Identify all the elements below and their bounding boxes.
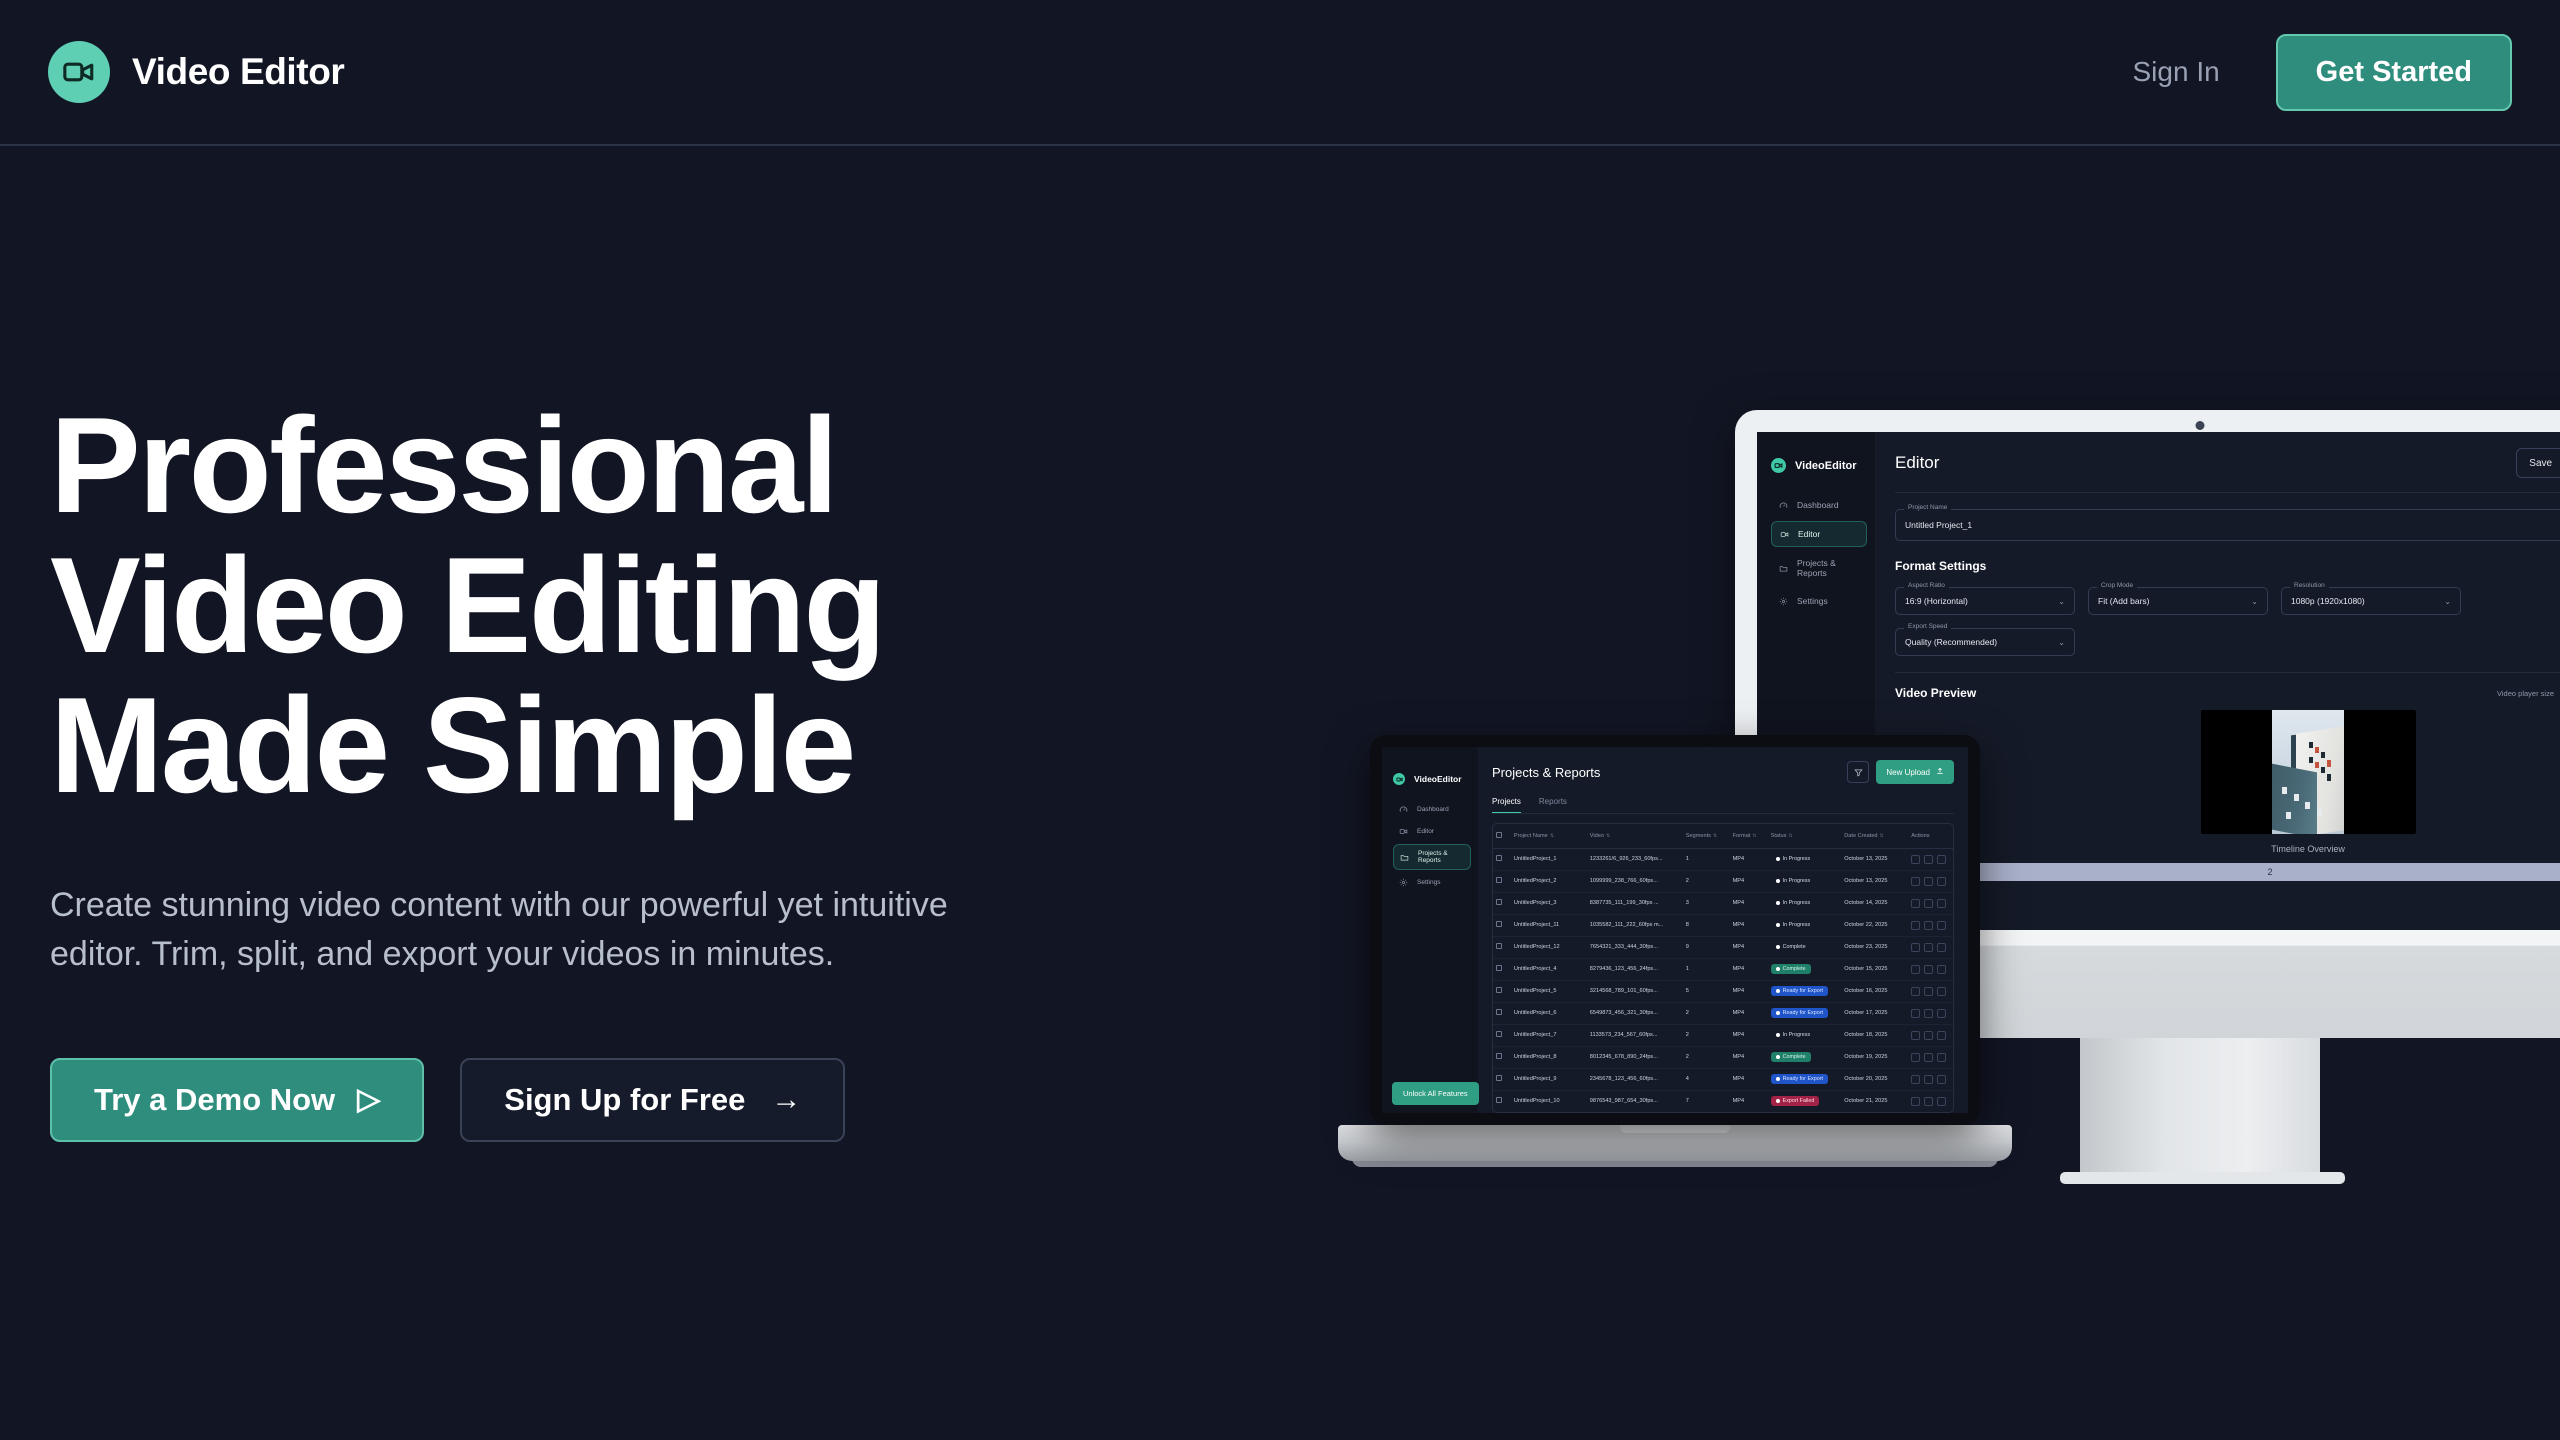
cell-video: 3214568_789_101_60fps... [1587, 980, 1683, 1002]
cell-status: Ready for Export [1768, 1068, 1842, 1090]
editor-divider [1895, 492, 2560, 493]
play-icon: ▷ [357, 1085, 380, 1115]
table-row[interactable]: UntitledProject_92345678_123_456_60fps..… [1493, 1068, 1953, 1090]
cell-date-created: October 13, 2025 [1841, 848, 1908, 870]
edit-icon[interactable] [1911, 899, 1920, 908]
download-icon[interactable] [1924, 1009, 1933, 1018]
editor-nav-item-settings[interactable]: Settings [1771, 589, 1867, 613]
editor-divider-2 [1895, 672, 2560, 673]
trash-icon[interactable] [1937, 877, 1946, 886]
cell-project-name: UntitledProject_4 [1511, 958, 1587, 980]
cell-date-created: October 16, 2025 [1841, 980, 1908, 1002]
column-label: Status [1771, 833, 1787, 839]
projects-table: Project Name⇅Video⇅Segments⇅Format⇅Statu… [1493, 824, 1953, 1113]
trash-icon[interactable] [1937, 921, 1946, 930]
cell-project-name: UntitledProject_5 [1511, 980, 1587, 1002]
projects-nav-label: Editor [1417, 828, 1434, 835]
cell-video: 9876543_987_654_30fps... [1587, 1090, 1683, 1112]
trash-icon[interactable] [1937, 1075, 1946, 1084]
format-field-resolution[interactable]: Resolution1080p (1920x1080)⌄ [2281, 587, 2461, 615]
projects-nav-item-settings[interactable]: Settings [1393, 873, 1471, 892]
column-header-date-created[interactable]: Date Created⇅ [1841, 824, 1908, 849]
row-checkbox-cell[interactable] [1493, 936, 1511, 958]
status-label: In Progress [1783, 878, 1811, 884]
select-all-checkbox[interactable] [1496, 832, 1502, 838]
cell-video: 1035582_111_222_60fps m... [1587, 914, 1683, 936]
row-checkbox-cell[interactable] [1493, 980, 1511, 1002]
projects-topbar-actions: New Upload [1847, 760, 1954, 784]
row-checkbox-cell[interactable] [1493, 1046, 1511, 1068]
chevron-down-icon[interactable]: ⌄ [2444, 597, 2451, 606]
chevron-down-icon[interactable]: ⌄ [2251, 597, 2258, 606]
column-header-status[interactable]: Status⇅ [1768, 824, 1842, 849]
row-checkbox[interactable] [1496, 987, 1502, 993]
gear-icon [1779, 597, 1788, 606]
cell-video: 2345678_123_456_60fps... [1587, 1068, 1683, 1090]
cell-actions [1908, 870, 1953, 892]
cell-format: MP4 [1730, 914, 1768, 936]
status-dot-icon [1776, 857, 1780, 861]
cell-actions [1908, 1002, 1953, 1024]
cell-status: Ready for Export [1768, 1112, 1842, 1113]
edit-icon[interactable] [1911, 987, 1920, 996]
trash-icon[interactable] [1937, 987, 1946, 996]
format-field-aspect-ratio[interactable]: Aspect Ratio16:9 (Horizontal)⌄ [1895, 587, 2075, 615]
cell-segments: 1 [1683, 958, 1730, 980]
trash-icon[interactable] [1937, 899, 1946, 908]
sign-in-link[interactable]: Sign In [2133, 56, 2220, 88]
download-icon[interactable] [1924, 965, 1933, 974]
cell-video: 1133573_234_567_60fps... [1587, 1024, 1683, 1046]
cell-format: MP4 [1730, 848, 1768, 870]
field-legend: Crop Mode [2097, 582, 2137, 589]
cell-date-created: October 15, 2025 [1841, 958, 1908, 980]
download-icon[interactable] [1924, 855, 1933, 864]
editor-app-brand-label: VideoEditor [1795, 460, 1857, 472]
projects-nav-item-projects-reports[interactable]: Projects & Reports [1393, 844, 1471, 870]
cell-video: 1233261/6_926_233_60fps... [1587, 848, 1683, 870]
cell-actions [1908, 914, 1953, 936]
row-checkbox[interactable] [1496, 877, 1502, 883]
trash-icon[interactable] [1937, 1053, 1946, 1062]
folder-icon [1779, 564, 1788, 573]
cell-date-created: October 21, 2025 [1841, 1090, 1908, 1112]
column-header-select [1493, 824, 1511, 849]
status-label: In Progress [1783, 900, 1811, 906]
sort-icon[interactable]: ⇅ [1606, 833, 1610, 839]
upload-icon [1936, 767, 1944, 777]
table-row[interactable]: UntitledProject_88012345_678_890_24fps..… [1493, 1046, 1953, 1068]
row-checkbox-cell[interactable] [1493, 848, 1511, 870]
video-icon [1780, 530, 1789, 539]
cell-status: Complete [1768, 958, 1842, 980]
field-value: 1080p (1920x1080) [2291, 596, 2365, 606]
status-label: Ready for Export [1783, 988, 1823, 994]
status-label: Ready for Export [1783, 1076, 1823, 1082]
brand-name: Video Editor [132, 51, 344, 93]
cell-segments: 10 [1683, 1112, 1730, 1113]
cell-actions [1908, 958, 1953, 980]
get-started-button[interactable]: Get Started [2276, 34, 2512, 111]
cell-format: MP4 [1730, 1046, 1768, 1068]
table-row[interactable]: UntitledProject_38387735_111_199_30fps .… [1493, 892, 1953, 914]
edit-icon[interactable] [1911, 877, 1920, 886]
table-row[interactable]: UntitledProject_109876543_987_654_30fps.… [1493, 1090, 1953, 1112]
row-checkbox-cell[interactable] [1493, 892, 1511, 914]
project-name-value: Untitled Project_1 [1905, 520, 1972, 530]
edit-icon[interactable] [1911, 1053, 1920, 1062]
row-checkbox[interactable] [1496, 921, 1502, 927]
new-upload-label: New Upload [1886, 768, 1930, 777]
field-legend: Export Speed [1904, 623, 1951, 630]
projects-nav-item-editor[interactable]: Editor [1393, 822, 1471, 841]
cell-video: 7654321_333_444_30fps... [1587, 936, 1683, 958]
header-actions: Sign In Get Started [2133, 34, 2513, 111]
cell-segments: 1 [1683, 848, 1730, 870]
monitor-stand [2080, 1038, 2320, 1178]
projects-table-head: Project Name⇅Video⇅Segments⇅Format⇅Statu… [1493, 824, 1953, 849]
status-label: Complete [1783, 944, 1806, 950]
status-dot-icon [1776, 1033, 1780, 1037]
row-checkbox[interactable] [1496, 1053, 1502, 1059]
field-value: Fit (Add bars) [2098, 596, 2150, 606]
player-size-slider[interactable]: Video player size [2497, 689, 2560, 698]
cell-segments: 9 [1683, 936, 1730, 958]
sign-up-free-button[interactable]: Sign Up for Free → [460, 1058, 845, 1142]
cell-status: In Progress [1768, 1024, 1842, 1046]
cell-status: In Progress [1768, 848, 1842, 870]
edit-icon[interactable] [1911, 965, 1920, 974]
laptop-screen: VideoEditor DashboardEditorProjects & Re… [1382, 747, 1968, 1113]
folder-icon [1400, 853, 1409, 862]
row-checkbox-cell[interactable] [1493, 1024, 1511, 1046]
row-checkbox-cell[interactable] [1493, 870, 1511, 892]
status-badge: Complete [1771, 964, 1811, 974]
column-header-format[interactable]: Format⇅ [1730, 824, 1768, 849]
cell-project-name: UntitledProject_1 [1511, 848, 1587, 870]
cell-date-created: October 13, 2025 [1841, 870, 1908, 892]
laptop-mockup: VideoEditor DashboardEditorProjects & Re… [1370, 735, 1980, 1125]
projects-nav-label: Projects & Reports [1418, 850, 1464, 864]
cell-status: In Progress [1768, 870, 1842, 892]
cell-segments: 5 [1683, 980, 1730, 1002]
row-checkbox[interactable] [1496, 855, 1502, 861]
status-label: Complete [1783, 966, 1806, 972]
editor-nav-label: Projects & Reports [1797, 558, 1859, 578]
cell-status: Ready for Export [1768, 1002, 1842, 1024]
projects-page-title: Projects & Reports [1492, 765, 1600, 780]
sort-icon[interactable]: ⇅ [1550, 833, 1554, 839]
status-dot-icon [1776, 1099, 1780, 1103]
cell-segments: 2 [1683, 1002, 1730, 1024]
projects-app-brand-label: VideoEditor [1414, 774, 1462, 784]
project-name-legend: Project Name [1904, 504, 1951, 511]
cell-project-name: UntitledProject_13 [1511, 1112, 1587, 1113]
status-badge: Export Failed [1771, 1096, 1820, 1106]
table-row[interactable]: UntitledProject_71133573_234_567_60fps..… [1493, 1024, 1953, 1046]
cell-format: MP4 [1730, 1024, 1768, 1046]
cell-format: MP4 [1730, 1068, 1768, 1090]
field-value: Quality (Recommended) [1905, 637, 1997, 647]
row-checkbox-cell[interactable] [1493, 1112, 1511, 1113]
new-upload-button[interactable]: New Upload [1876, 760, 1954, 784]
edit-icon[interactable] [1911, 943, 1920, 952]
row-checkbox[interactable] [1496, 1009, 1502, 1015]
status-badge: In Progress [1771, 898, 1816, 908]
projects-topbar: Projects & Reports New Upload [1492, 760, 1954, 784]
column-label: Format [1733, 833, 1751, 839]
column-label: Date Created [1844, 833, 1877, 839]
unlock-all-features-button[interactable]: Unlock All Features [1392, 1082, 1479, 1105]
row-checkbox[interactable] [1496, 1031, 1502, 1037]
sort-icon[interactable]: ⇅ [1880, 833, 1884, 839]
row-checkbox[interactable] [1496, 1097, 1502, 1103]
download-icon[interactable] [1924, 1031, 1933, 1040]
editor-nav-label: Editor [1798, 529, 1820, 539]
field-legend: Aspect Ratio [1904, 582, 1949, 589]
download-icon[interactable] [1924, 899, 1933, 908]
table-row[interactable]: UntitledProject_131357924_555_666_60fps … [1493, 1112, 1953, 1113]
video-camera-icon [1771, 458, 1786, 473]
editor-nav-item-dashboard[interactable]: Dashboard [1771, 493, 1867, 517]
row-checkbox-cell[interactable] [1493, 958, 1511, 980]
cell-project-name: UntitledProject_2 [1511, 870, 1587, 892]
status-badge: Ready for Export [1771, 986, 1828, 996]
status-dot-icon [1776, 1077, 1780, 1081]
column-header-segments[interactable]: Segments⇅ [1683, 824, 1730, 849]
chevron-down-icon[interactable]: ⌄ [2058, 638, 2065, 647]
status-dot-icon [1776, 901, 1780, 905]
save-label: Save [2529, 458, 2552, 469]
video-player[interactable] [2201, 710, 2416, 834]
download-icon[interactable] [1924, 877, 1933, 886]
sort-icon[interactable]: ⇅ [1752, 833, 1756, 839]
cell-actions [1908, 1046, 1953, 1068]
table-row[interactable]: UntitledProject_48279436_123_456_24fps..… [1493, 958, 1953, 980]
edit-icon[interactable] [1911, 1031, 1920, 1040]
sort-icon[interactable]: ⇅ [1788, 833, 1792, 839]
cell-segments: 7 [1683, 1090, 1730, 1112]
trash-icon[interactable] [1937, 943, 1946, 952]
row-checkbox[interactable] [1496, 943, 1502, 949]
cell-status: Complete [1768, 1046, 1842, 1068]
format-field-crop-mode[interactable]: Crop ModeFit (Add bars)⌄ [2088, 587, 2268, 615]
editor-nav-item-editor[interactable]: Editor [1771, 521, 1867, 547]
row-checkbox-cell[interactable] [1493, 1090, 1511, 1112]
cell-project-name: UntitledProject_11 [1511, 914, 1587, 936]
projects-main: Projects & Reports New Upload [1478, 747, 1968, 1113]
laptop-base-notch [1620, 1125, 1730, 1133]
cell-format: MP4 [1730, 1112, 1768, 1113]
edit-icon[interactable] [1911, 855, 1920, 864]
trash-icon[interactable] [1937, 1009, 1946, 1018]
download-icon[interactable] [1924, 1053, 1933, 1062]
table-row[interactable]: UntitledProject_11233261/6_926_233_60fps… [1493, 848, 1953, 870]
video-preview-title: Video Preview [1895, 686, 1976, 700]
edit-icon[interactable] [1911, 1097, 1920, 1106]
edit-icon[interactable] [1911, 1075, 1920, 1084]
column-label: Video [1590, 833, 1604, 839]
status-badge: In Progress [1771, 854, 1816, 864]
cell-format: MP4 [1730, 870, 1768, 892]
projects-table-body: UntitledProject_11233261/6_926_233_60fps… [1493, 848, 1953, 1113]
status-badge: Complete [1771, 942, 1811, 952]
row-checkbox[interactable] [1496, 899, 1502, 905]
webcam-dot-icon [2196, 421, 2205, 430]
monitor-foot [2060, 1172, 2345, 1184]
hero-cta-group: Try a Demo Now ▷ Sign Up for Free → [50, 1058, 1170, 1142]
table-row[interactable]: UntitledProject_66549873_456_321_30fps..… [1493, 1002, 1953, 1024]
editor-app-brand: VideoEditor [1771, 458, 1875, 473]
row-checkbox-cell[interactable] [1493, 1002, 1511, 1024]
table-row[interactable]: UntitledProject_21099999_238_766_60fps..… [1493, 870, 1953, 892]
row-checkbox-cell[interactable] [1493, 914, 1511, 936]
building-photo [2272, 710, 2344, 834]
status-dot-icon [1776, 945, 1780, 949]
tab-reports[interactable]: Reports [1539, 797, 1567, 814]
field-legend: Resolution [2290, 582, 2329, 589]
funnel-icon[interactable] [1847, 761, 1869, 783]
column-header-video[interactable]: Video⇅ [1587, 824, 1683, 849]
gear-icon [1399, 878, 1408, 887]
try-demo-button[interactable]: Try a Demo Now ▷ [50, 1058, 424, 1142]
cell-format: MP4 [1730, 1002, 1768, 1024]
status-badge: Ready for Export [1771, 1074, 1828, 1084]
timeline-caption: Timeline Overview [1913, 844, 2560, 854]
table-row[interactable]: UntitledProject_111035582_111_222_60fps … [1493, 914, 1953, 936]
download-icon[interactable] [1924, 1097, 1933, 1106]
projects-sidebar: VideoEditor DashboardEditorProjects & Re… [1382, 747, 1478, 1113]
cell-project-name: UntitledProject_9 [1511, 1068, 1587, 1090]
video-camera-icon [1393, 773, 1405, 785]
row-checkbox[interactable] [1496, 1075, 1502, 1081]
cell-status: In Progress [1768, 892, 1842, 914]
cell-video: 1099999_238_766_60fps... [1587, 870, 1683, 892]
cell-date-created: October 19, 2025 [1841, 1046, 1908, 1068]
editor-nav-item-projects-reports[interactable]: Projects & Reports [1771, 551, 1867, 585]
cell-video: 8387735_111_199_30fps ... [1587, 892, 1683, 914]
download-icon[interactable] [1924, 943, 1933, 952]
cell-format: MP4 [1730, 1090, 1768, 1112]
edit-icon[interactable] [1911, 921, 1920, 930]
projects-table-wrap: Project Name⇅Video⇅Segments⇅Format⇅Statu… [1492, 823, 1954, 1113]
video-preview-header: Video Preview Video player size [1895, 686, 2560, 700]
editor-page-title: Editor [1895, 453, 1939, 473]
table-row[interactable]: UntitledProject_127654321_333_444_30fps.… [1493, 936, 1953, 958]
status-label: Ready for Export [1783, 1010, 1823, 1016]
project-name-field[interactable]: Project Name Untitled Project_1 [1895, 509, 2560, 541]
cell-video: 8012345_678_890_24fps... [1587, 1046, 1683, 1068]
hero-section: Professional Video Editing Made Simple C… [50, 395, 1170, 1142]
arrow-right-icon: → [771, 1085, 801, 1115]
cell-video: 6549873_456_321_30fps... [1587, 1002, 1683, 1024]
download-icon[interactable] [1924, 987, 1933, 996]
status-badge: Complete [1771, 1052, 1811, 1062]
format-settings-title: Format Settings [1895, 559, 2560, 573]
status-dot-icon [1776, 1011, 1780, 1015]
chevron-down-icon[interactable]: ⌄ [2058, 597, 2065, 606]
projects-tabs: ProjectsReports [1492, 797, 1954, 814]
cell-segments: 2 [1683, 1024, 1730, 1046]
cell-date-created: October 18, 2025 [1841, 1024, 1908, 1046]
cell-format: MP4 [1730, 936, 1768, 958]
brand[interactable]: Video Editor [48, 41, 344, 103]
sign-up-free-label: Sign Up for Free [504, 1082, 745, 1118]
download-icon[interactable] [1924, 921, 1933, 930]
cell-project-name: UntitledProject_3 [1511, 892, 1587, 914]
status-badge: Ready for Export [1771, 1008, 1828, 1018]
cell-format: MP4 [1730, 892, 1768, 914]
column-header-project-name[interactable]: Project Name⇅ [1511, 824, 1587, 849]
status-dot-icon [1776, 967, 1780, 971]
projects-nav-item-dashboard[interactable]: Dashboard [1393, 800, 1471, 819]
save-button[interactable]: Save [2516, 448, 2560, 478]
cell-segments: 2 [1683, 870, 1730, 892]
player-size-label: Video player size [2497, 689, 2554, 698]
hero-title: Professional Video Editing Made Simple [50, 395, 1170, 815]
row-checkbox-cell[interactable] [1493, 1068, 1511, 1090]
status-label: Complete [1783, 1054, 1806, 1060]
cell-actions [1908, 1090, 1953, 1112]
column-label: Project Name [1514, 833, 1548, 839]
trash-icon[interactable] [1937, 965, 1946, 974]
status-badge: In Progress [1771, 1030, 1816, 1040]
table-row[interactable]: UntitledProject_53214568_789_101_60fps..… [1493, 980, 1953, 1002]
laptop-notch [1635, 735, 1715, 745]
cell-status: In Progress [1768, 914, 1842, 936]
status-dot-icon [1776, 923, 1780, 927]
cell-project-name: UntitledProject_12 [1511, 936, 1587, 958]
status-label: In Progress [1783, 1032, 1811, 1038]
trash-icon[interactable] [1937, 1031, 1946, 1040]
try-demo-label: Try a Demo Now [94, 1082, 335, 1118]
status-label: In Progress [1783, 922, 1811, 928]
cell-actions [1908, 1112, 1953, 1113]
projects-tabs-rule [1492, 813, 1954, 814]
trash-icon[interactable] [1937, 855, 1946, 864]
editor-nav-label: Dashboard [1797, 500, 1839, 510]
video-icon [1399, 827, 1408, 836]
editor-topbar-actions: Save Export [2516, 448, 2560, 478]
cell-actions [1908, 892, 1953, 914]
download-icon[interactable] [1924, 1075, 1933, 1084]
row-checkbox[interactable] [1496, 965, 1502, 971]
projects-nav-label: Dashboard [1417, 806, 1449, 813]
edit-icon[interactable] [1911, 1009, 1920, 1018]
cell-actions [1908, 1024, 1953, 1046]
hero-subtitle: Create stunning video content with our p… [50, 881, 1120, 978]
format-field-export-speed[interactable]: Export SpeedQuality (Recommended)⌄ [1895, 628, 2075, 656]
cell-format: MP4 [1730, 980, 1768, 1002]
cell-video: 1357924_555_666_60fps ... [1587, 1112, 1683, 1113]
tab-projects[interactable]: Projects [1492, 797, 1521, 814]
cell-date-created: October 22, 2025 [1841, 914, 1908, 936]
cell-project-name: UntitledProject_7 [1511, 1024, 1587, 1046]
column-header-actions[interactable]: Actions [1908, 824, 1953, 849]
gauge-icon [1779, 501, 1788, 510]
trash-icon[interactable] [1937, 1097, 1946, 1106]
projects-nav: DashboardEditorProjects & ReportsSetting… [1393, 800, 1478, 892]
status-label: Export Failed [1783, 1098, 1815, 1104]
cell-date-created: October 17, 2025 [1841, 1002, 1908, 1024]
video-frame [2272, 710, 2344, 834]
laptop-base [1338, 1125, 2012, 1161]
cell-actions [1908, 848, 1953, 870]
video-camera-icon [48, 41, 110, 103]
column-label: Segments [1686, 833, 1711, 839]
sort-icon[interactable]: ⇅ [1713, 833, 1717, 839]
status-badge: In Progress [1771, 876, 1816, 886]
